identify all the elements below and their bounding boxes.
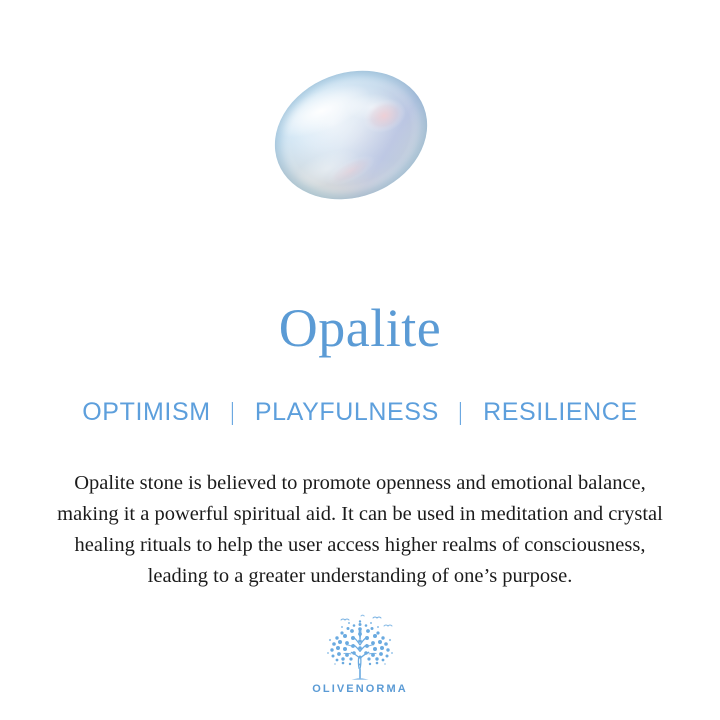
- stone-title: Opalite: [0, 300, 720, 357]
- tree-of-life-icon: [317, 612, 403, 682]
- keyword-separator: |: [225, 398, 241, 427]
- brand-wordmark: OLIVENORMA: [0, 683, 720, 695]
- brand-logo: OLIVENORMA: [0, 612, 720, 695]
- hero-image-area: [0, 0, 720, 270]
- opalite-cabochon-icon: [255, 48, 448, 222]
- opalite-info-card: Opalite OPTIMISM | PLAYFULNESS | RESILIE…: [0, 0, 720, 720]
- description-line: leading to a greater understanding of on…: [24, 561, 696, 592]
- keyword-resilience: RESILIENCE: [483, 398, 638, 427]
- description-line: Opalite stone is believed to promote ope…: [24, 468, 696, 499]
- keyword-optimism: OPTIMISM: [82, 398, 210, 427]
- keyword-separator: |: [453, 398, 469, 427]
- keyword-list: OPTIMISM | PLAYFULNESS | RESILIENCE: [0, 398, 720, 427]
- stone-description: Opalite stone is believed to promote ope…: [24, 468, 696, 592]
- opalite-stone-image: [272, 72, 430, 198]
- description-line: making it a powerful spiritual aid. It c…: [24, 499, 696, 530]
- description-line: healing rituals to help the user access …: [24, 530, 696, 561]
- keyword-playfulness: PLAYFULNESS: [255, 398, 439, 427]
